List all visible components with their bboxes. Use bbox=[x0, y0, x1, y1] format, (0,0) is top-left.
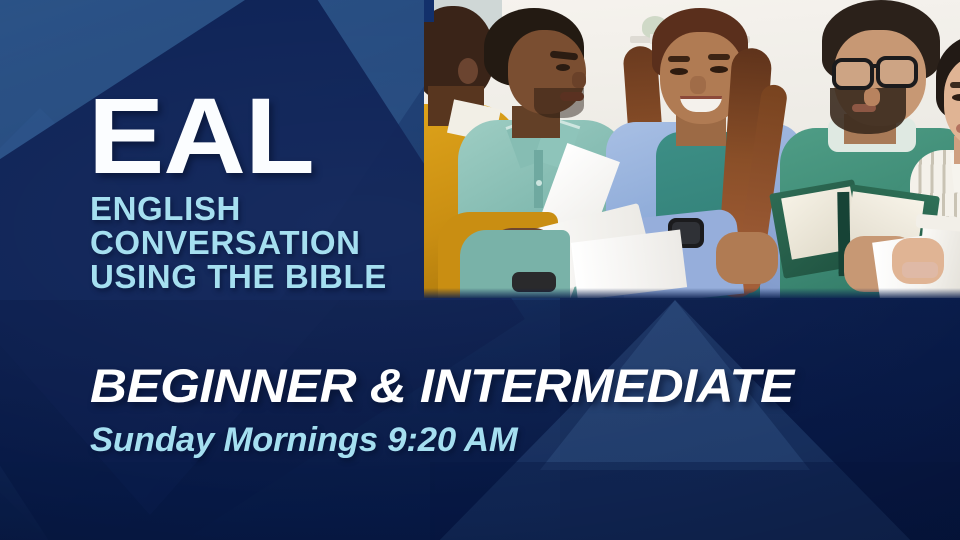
text-layer: EAL ENGLISH CONVERSATION USING THE BIBLE… bbox=[0, 0, 960, 540]
class-schedule: Sunday Mornings 9:20 AM bbox=[90, 423, 518, 457]
subtitle-line-1: ENGLISH bbox=[90, 192, 387, 226]
program-acronym: EAL bbox=[88, 88, 314, 183]
subtitle-line-3: USING THE BIBLE bbox=[90, 260, 387, 294]
class-levels: BEGINNER & INTERMEDIATE bbox=[90, 362, 794, 409]
program-subtitle: ENGLISH CONVERSATION USING THE BIBLE bbox=[90, 192, 387, 294]
subtitle-line-2: CONVERSATION bbox=[90, 226, 387, 260]
promo-slide: EAL ENGLISH CONVERSATION USING THE BIBLE… bbox=[0, 0, 960, 540]
